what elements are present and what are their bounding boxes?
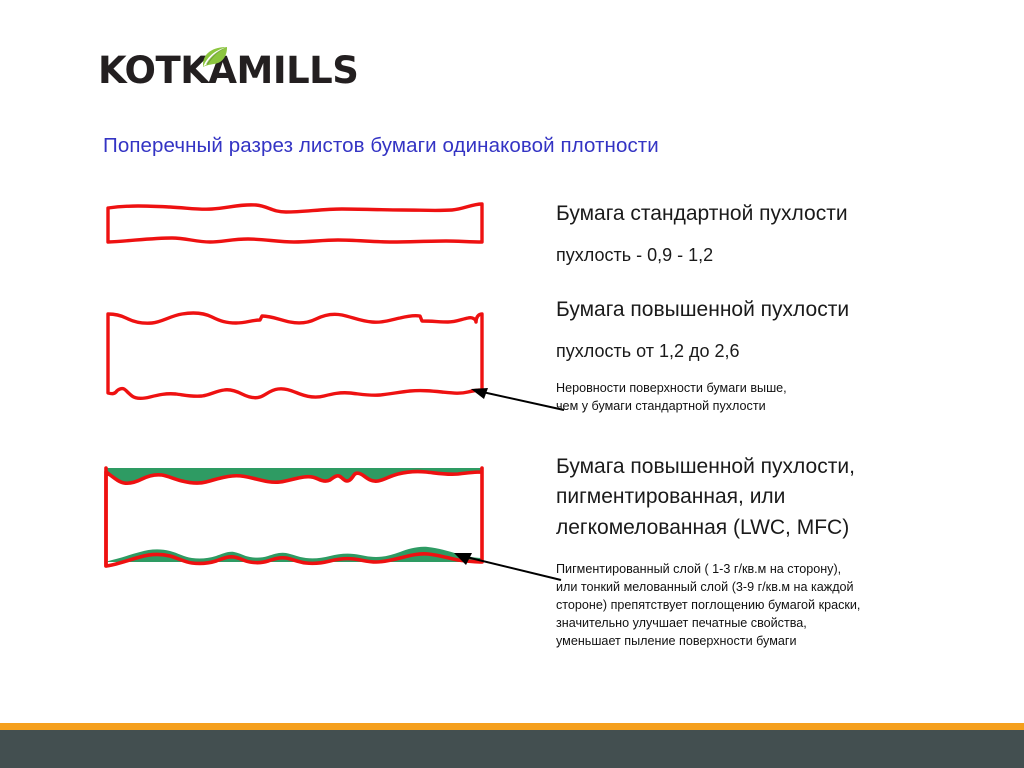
section-heading-pigmented: Бумага повышенной пухлости, пигментирова… <box>556 452 956 543</box>
section-subheading-high-bulk: пухлость от 1,2 до 2,6 <box>556 340 740 363</box>
heading-line: легкомелованная (LWC, MFC) <box>556 513 956 543</box>
paper-cross-section-standard <box>90 190 510 265</box>
footer-bar <box>0 730 1024 768</box>
note-line: уменьшает пыление поверхности бумаги <box>556 632 860 650</box>
note-line: стороне) препятствует поглощению бумагой… <box>556 596 860 614</box>
note-line: или тонкий мелованный слой (3-9 г/кв.м н… <box>556 578 860 596</box>
arrow-pointer-icon-high-bulk <box>466 384 566 414</box>
section-heading-standard: Бумага стандартной пухлости <box>556 200 848 228</box>
arrow-pointer-icon-pigmented <box>448 548 563 583</box>
note-line: чем у бумаги стандартной пухлости <box>556 397 787 415</box>
page-title: Поперечный разрез листов бумаги одинаков… <box>103 134 659 158</box>
section-heading-high-bulk: Бумага повышенной пухлости <box>556 296 849 324</box>
note-line: Неровности поверхности бумаги выше, <box>556 379 787 397</box>
paper-cross-section-high-bulk <box>90 292 510 412</box>
section-note-high-bulk: Неровности поверхности бумаги выше, чем … <box>556 379 787 415</box>
paper-cross-section-pigmented <box>90 450 510 580</box>
paper-outline <box>108 313 482 398</box>
note-line: значительно улучшает печатные свойства, <box>556 614 860 632</box>
heading-line: пигментированная, или <box>556 482 956 512</box>
footer-accent-stripe <box>0 723 1024 730</box>
note-line: Пигментированный слой ( 1-3 г/кв.м на ст… <box>556 560 860 578</box>
slide-canvas: KOTKAMILLS Поперечный разрез листов бума… <box>0 0 1024 768</box>
leaf-icon <box>200 46 230 68</box>
heading-line: Бумага повышенной пухлости, <box>556 452 956 482</box>
section-subheading-standard: пухлость - 0,9 - 1,2 <box>556 244 713 267</box>
section-note-pigmented: Пигментированный слой ( 1-3 г/кв.м на ст… <box>556 560 860 650</box>
kotkamills-logo: KOTKAMILLS <box>98 46 398 98</box>
paper-outline <box>108 204 482 242</box>
